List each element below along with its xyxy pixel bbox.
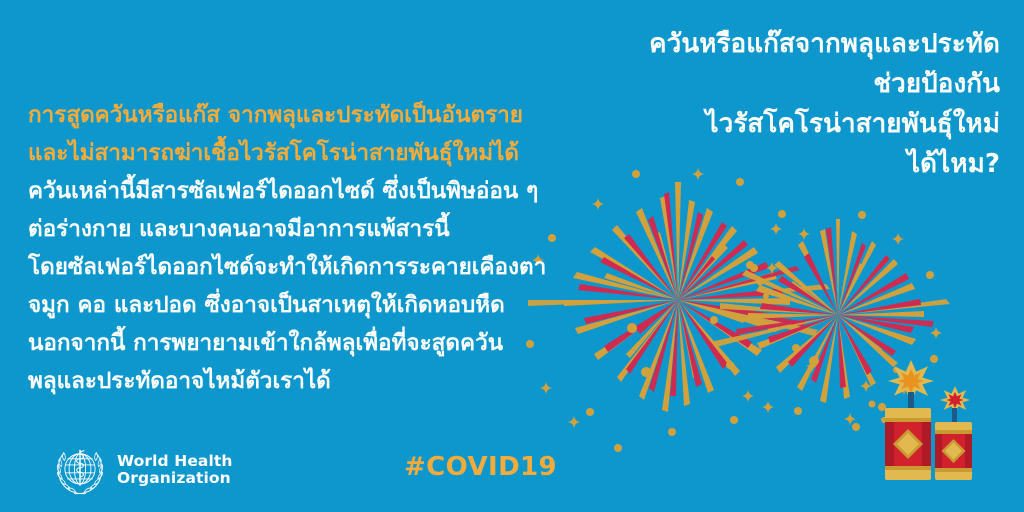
body-line-4: ต่อร่างกาย และบางคนอาจมีอาการแพ้สารนี้ — [28, 210, 588, 248]
body-line-3: ควันเหล่านี้มีสารซัลเฟอร์ไดออกไซด์ ซึ่งเ… — [28, 172, 588, 210]
body-line-8: พลุและประทัดอาจไหม้ตัวเราได้ — [28, 362, 588, 400]
body-line-6: จมูก คอ และปอด ซึ่งอาจเป็นสาเหตุให้เกิดห… — [28, 286, 588, 324]
poster-canvas: ควันหรือแก๊สจากพลุและประทัด ช่วยป้องกัน … — [0, 0, 1024, 512]
headline-line-1: ควันหรือแก๊สจากพลุและประทัด — [570, 24, 1000, 64]
who-emblem-icon — [52, 442, 108, 498]
who-wordmark: World Health Organization — [117, 453, 233, 488]
headline: ควันหรือแก๊สจากพลุและประทัด ช่วยป้องกัน … — [570, 24, 1000, 184]
body-line-1: การสูดควันหรือแก๊ส จากพลุและประทัดเป็นอั… — [28, 96, 588, 134]
who-logo: World Health Organization — [52, 442, 233, 498]
firework-burst-small — [714, 211, 950, 431]
stray-sparkles — [750, 262, 899, 423]
body-line-5: โดยซัลเฟอร์ไดออกไซด์จะทำให้เกิดการระคายเ… — [28, 248, 588, 286]
firecracker-large — [885, 360, 934, 480]
body-line-2: และไม่สามารถฆ่าเชื้อไวรัสโคโรน่าสายพันธุ… — [28, 134, 588, 172]
body-copy: การสูดควันหรือแก๊ส จากพลุและประทัดเป็นอั… — [28, 96, 588, 400]
headline-line-2: ช่วยป้องกัน — [570, 64, 1000, 104]
headline-line-3: ไวรัสโคโรน่าสายพันธุ์ใหม่ — [570, 104, 1000, 144]
firecracker-small — [935, 386, 972, 480]
headline-line-4: ได้ไหม? — [570, 144, 1000, 184]
body-line-7: นอกจากนี้ การพยายามเข้าใกล้พลุเพื่อที่จะ… — [28, 324, 588, 362]
who-wordmark-line-2: Organization — [117, 470, 233, 488]
who-wordmark-line-1: World Health — [117, 453, 233, 471]
hashtag-covid19: #COVID19 — [404, 452, 557, 482]
